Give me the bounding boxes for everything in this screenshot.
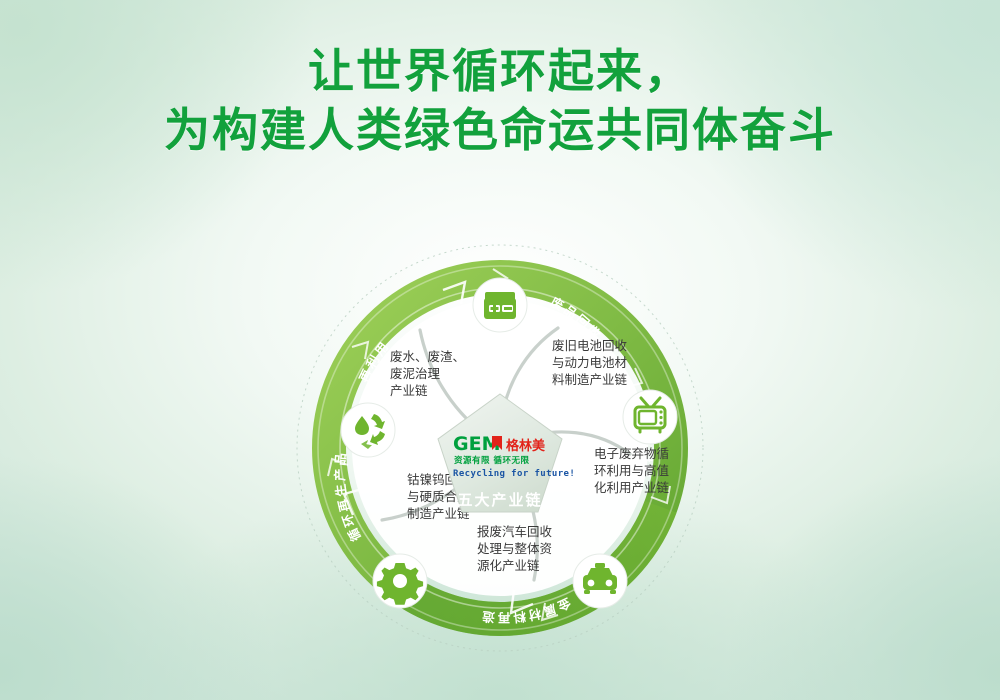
title-line-2: 为构建人类绿色命运共同体奋斗 [0, 100, 1000, 160]
center-tag-label: 五大产业链 [457, 491, 542, 509]
gear-icon [377, 563, 423, 605]
segment-e-waste-label: 电子废弃物循 环利用与高值 化利用产业链 [594, 446, 673, 495]
battery-icon [484, 292, 516, 319]
page-title: 让世界循环起来， 为构建人类绿色命运共同体奋斗 [0, 42, 1000, 160]
industry-chain-diagram: 再利用 废品回收 绿色材料 金属材料再造 循环再生产品 [290, 218, 710, 663]
title-line-1: 让世界循环起来， [0, 42, 1000, 100]
brand-slogan-cn: 资源有限 循环无限 [454, 455, 529, 466]
brand-cn: 格林美 [506, 438, 546, 454]
segment-battery-label: 废旧电池回收 与动力电池材 料制造产业链 [552, 338, 631, 387]
brand-slogan-en: Recycling for future! [453, 468, 575, 479]
